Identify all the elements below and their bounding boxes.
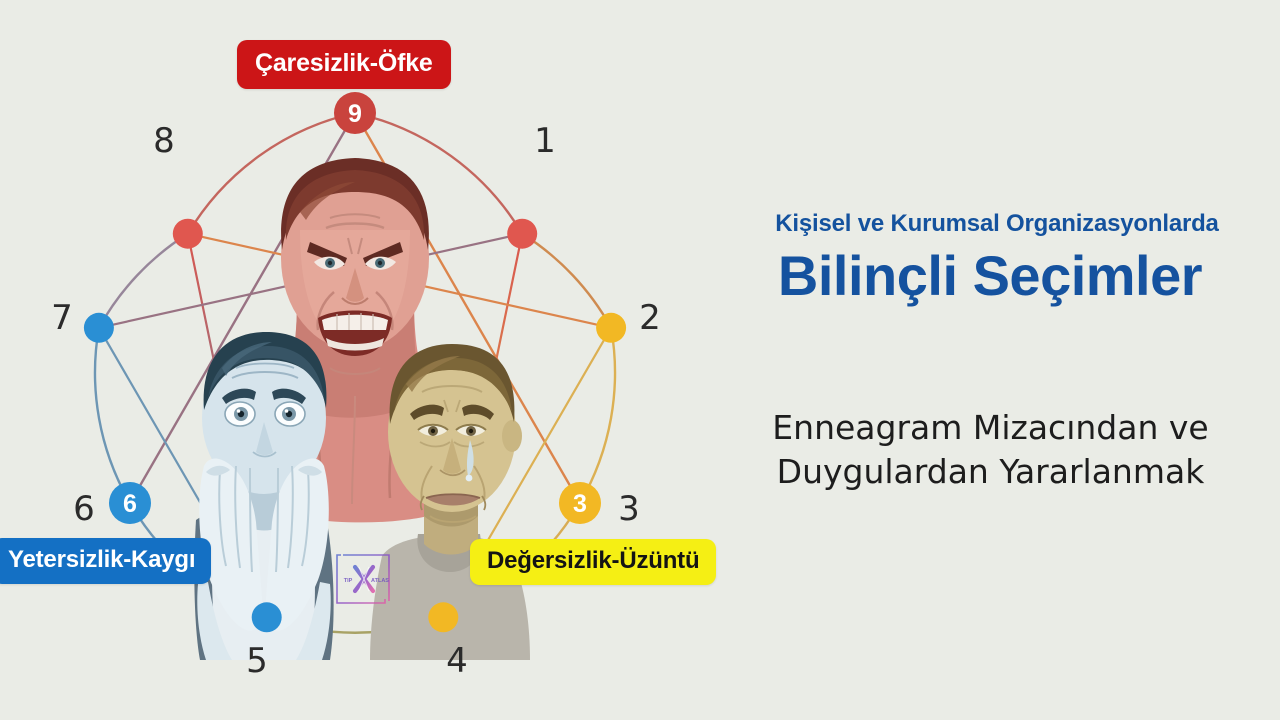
- enneagram-node-4[interactable]: [428, 602, 458, 632]
- enneagram-node-2[interactable]: [596, 313, 626, 343]
- enneagram-number-2: 2: [639, 301, 661, 335]
- label-anxiety-pill: Yetersizlik-Kaygı: [0, 538, 211, 584]
- enneagram-diagram: 9 3 6 8 1 2 3 4 5 6 7 Çaresizlik-Öfke Ye…: [0, 0, 700, 720]
- enneagram-number-4: 4: [446, 644, 468, 678]
- enneagram-node-9-label: 9: [348, 100, 362, 128]
- label-anger-pill: Çaresizlik-Öfke: [237, 40, 451, 89]
- enneagram-number-3: 3: [618, 492, 640, 526]
- headline-text: Bilinçli Seçimler: [720, 243, 1260, 308]
- enneagram-node-7[interactable]: [84, 313, 114, 343]
- watermark-right-text: ATLAS: [371, 578, 389, 584]
- enneagram-svg: 9 3 6: [0, 0, 700, 720]
- poster-canvas: 9 3 6 8 1 2 3 4 5 6 7 Çaresizlik-Öfke Ye…: [0, 0, 1280, 720]
- text-panel: Kişisel ve Kurumsal Organizasyonlarda Bi…: [700, 0, 1280, 720]
- enneagram-number-5: 5: [246, 644, 268, 678]
- label-sadness-pill: Değersizlik-Üzüntü: [470, 539, 716, 585]
- enneagram-node-5[interactable]: [252, 602, 282, 632]
- enneagram-number-8: 8: [153, 124, 175, 158]
- enneagram-node-1[interactable]: [507, 219, 537, 249]
- tip-atlas-watermark: TIP ATLAS: [333, 551, 395, 607]
- enneagram-node-3-label: 3: [573, 490, 587, 518]
- enneagram-number-6: 6: [73, 492, 95, 526]
- enneagram-node-6[interactable]: 6: [109, 482, 151, 524]
- enneagram-number-1: 1: [534, 124, 556, 158]
- enneagram-node-8[interactable]: [173, 219, 203, 249]
- enneagram-node-9[interactable]: 9: [334, 92, 376, 134]
- enneagram-node-3[interactable]: 3: [559, 482, 601, 524]
- subline-text: Enneagram Mizacından ve Duygulardan Yara…: [718, 406, 1263, 493]
- enneagram-node-6-label: 6: [123, 490, 137, 518]
- enneagram-number-7: 7: [51, 301, 73, 335]
- watermark-left-text: TIP: [344, 578, 353, 584]
- eyebrow-text: Kişisel ve Kurumsal Organizasyonlarda: [727, 210, 1267, 238]
